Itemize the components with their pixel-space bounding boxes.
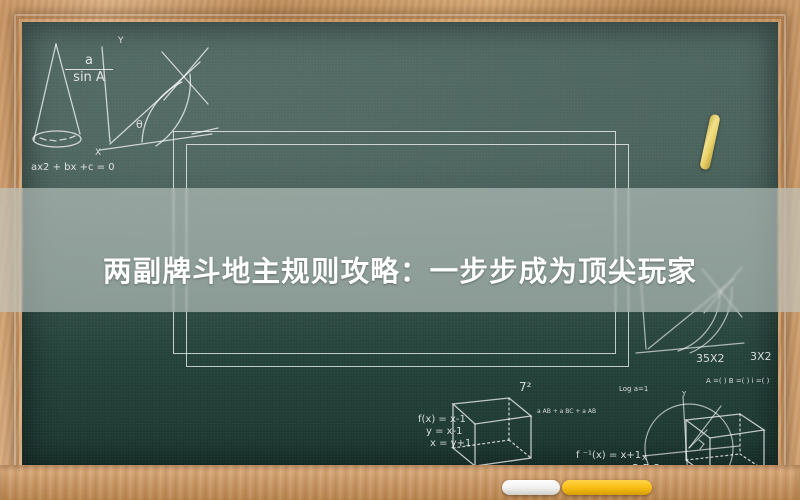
function-line-1: f(x) = x-1 xyxy=(418,414,466,425)
axis-label-y-bottom: Y xyxy=(682,390,686,398)
chalk-ledge xyxy=(0,465,800,500)
banner-stage: Y X θ a sin A ax2 + bx +c = 0 8² xyxy=(0,0,800,500)
matrix-expression: A =( ) B =( ) i =( ) xyxy=(706,377,769,385)
multiplication-35x2: 35X2 xyxy=(696,352,725,365)
chalk-stick-yellow-icon xyxy=(562,480,652,495)
vector-sum-expression: a AB + a BC + a AB xyxy=(537,408,596,415)
power-seven: 7² xyxy=(519,380,531,394)
multiplication-3x2: 3X2 xyxy=(750,350,772,363)
log-a-equals-one: Log a=1 xyxy=(619,385,648,393)
function-line-3: x = y+1 xyxy=(430,438,471,449)
chalk-stick-white-icon xyxy=(502,480,560,495)
function-line-2: y = x-1 xyxy=(426,426,463,437)
page-title: 两副牌斗地主规则攻略：一步步成为顶尖玩家 xyxy=(0,207,800,331)
axis-label-x-bottom: X xyxy=(642,454,647,462)
inverse-function: f ⁻¹(x) = x+1 xyxy=(576,450,641,461)
